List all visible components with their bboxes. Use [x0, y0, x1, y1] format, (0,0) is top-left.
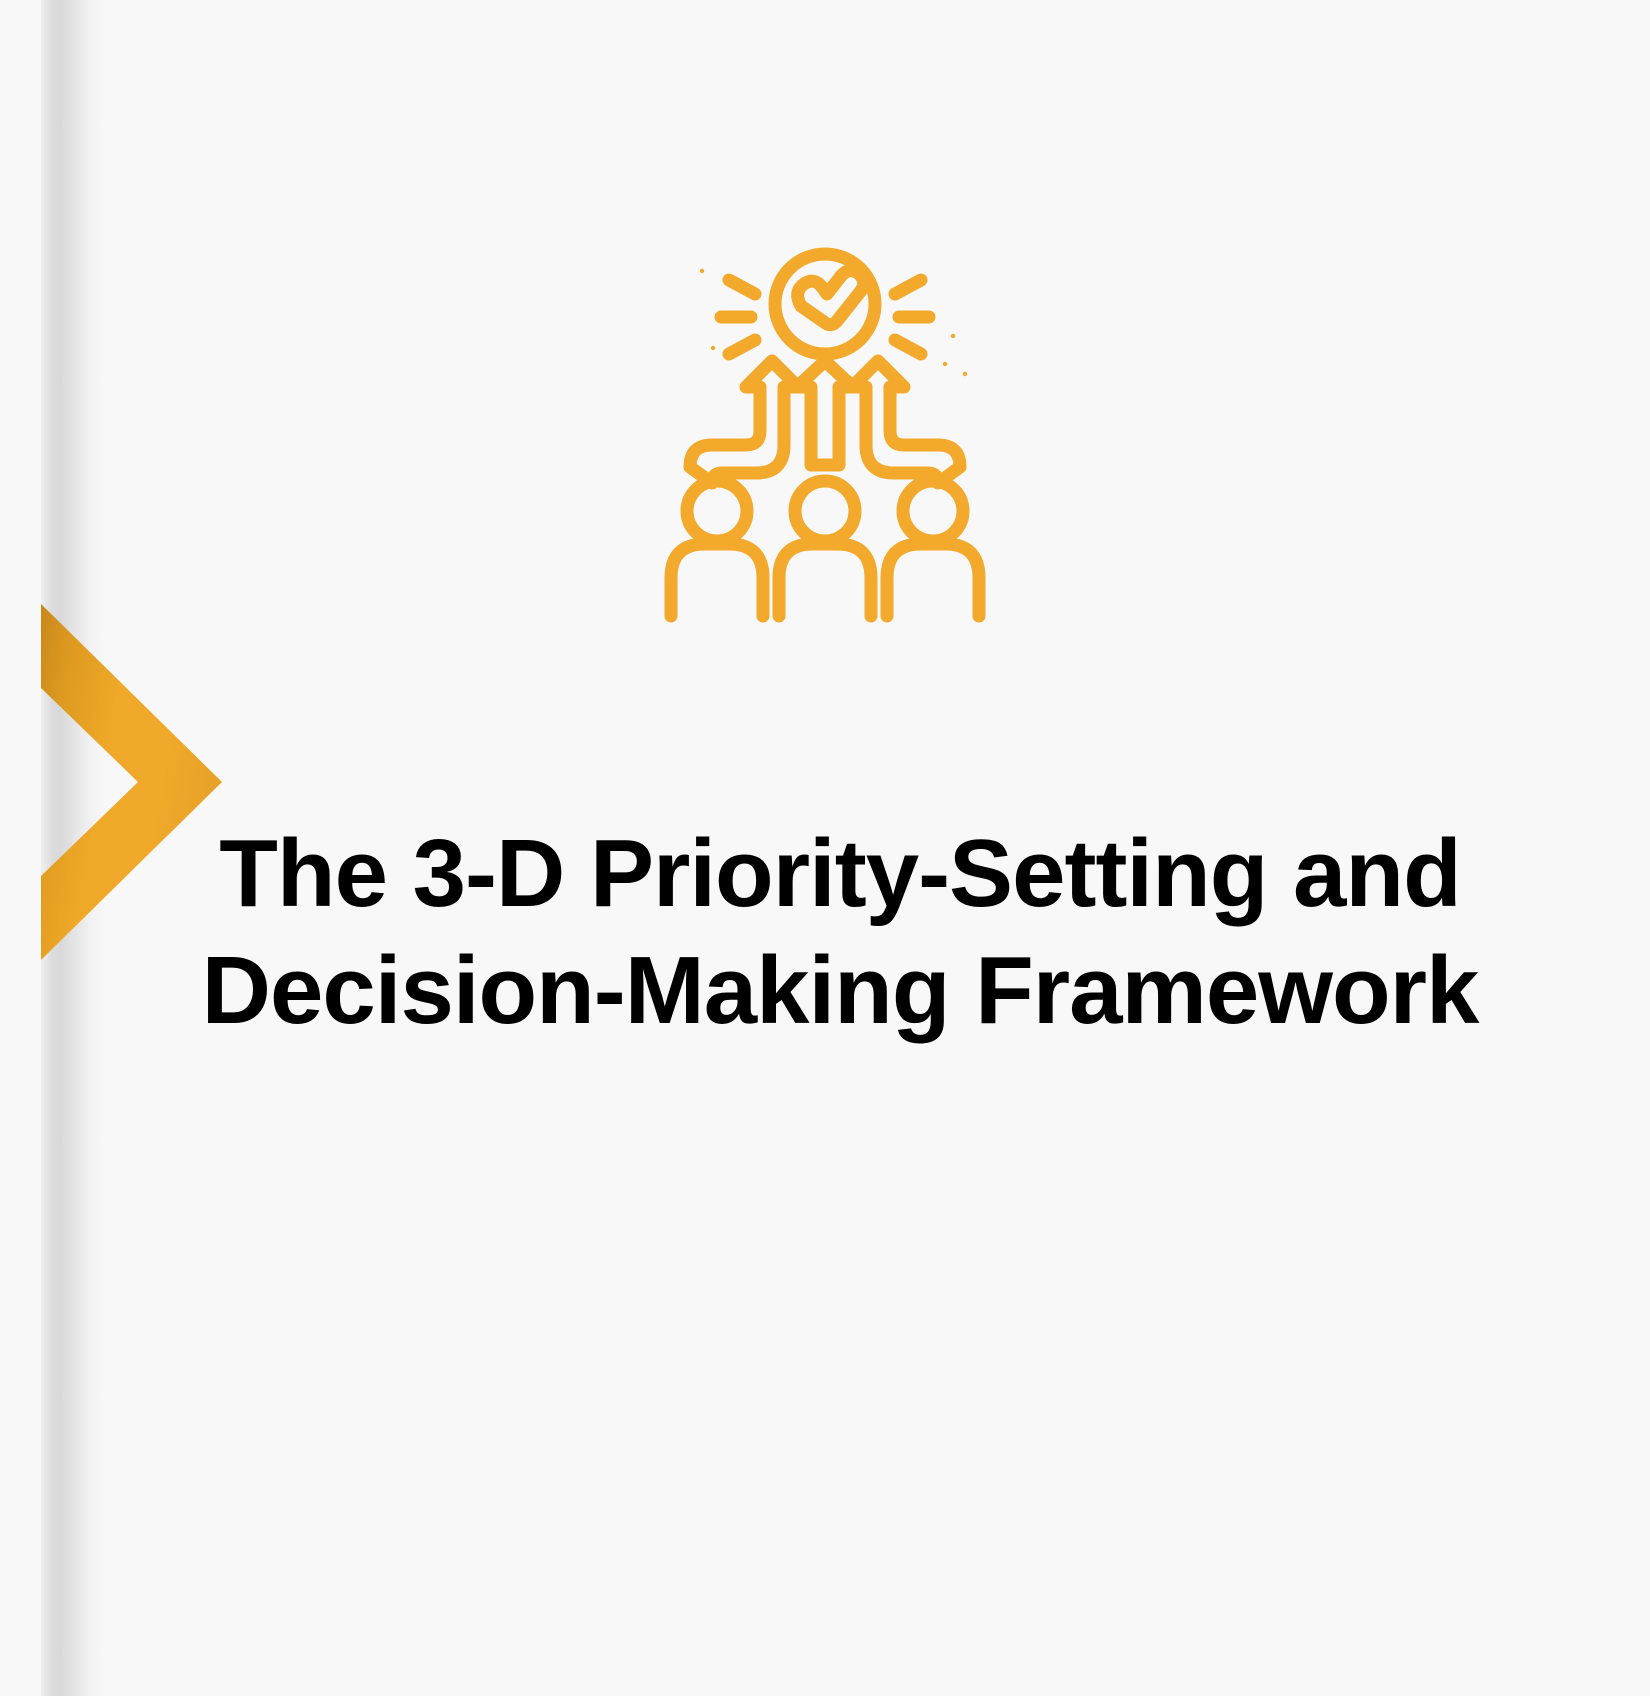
person-center-icon — [779, 481, 871, 616]
person-left-icon — [671, 481, 763, 616]
title-block: The 3-D Priority-Setting and Decision-Ma… — [150, 815, 1530, 1049]
page-title: The 3-D Priority-Setting and Decision-Ma… — [150, 815, 1530, 1049]
team-decision-icon — [0, 236, 1650, 626]
up-arrow-center-icon — [797, 361, 853, 465]
up-arrow-left-icon — [690, 361, 798, 483]
slide-canvas: The 3-D Priority-Setting and Decision-Ma… — [0, 0, 1650, 1696]
check-badge-icon — [775, 254, 875, 354]
person-right-icon — [887, 481, 979, 616]
up-arrow-right-icon — [852, 361, 960, 483]
